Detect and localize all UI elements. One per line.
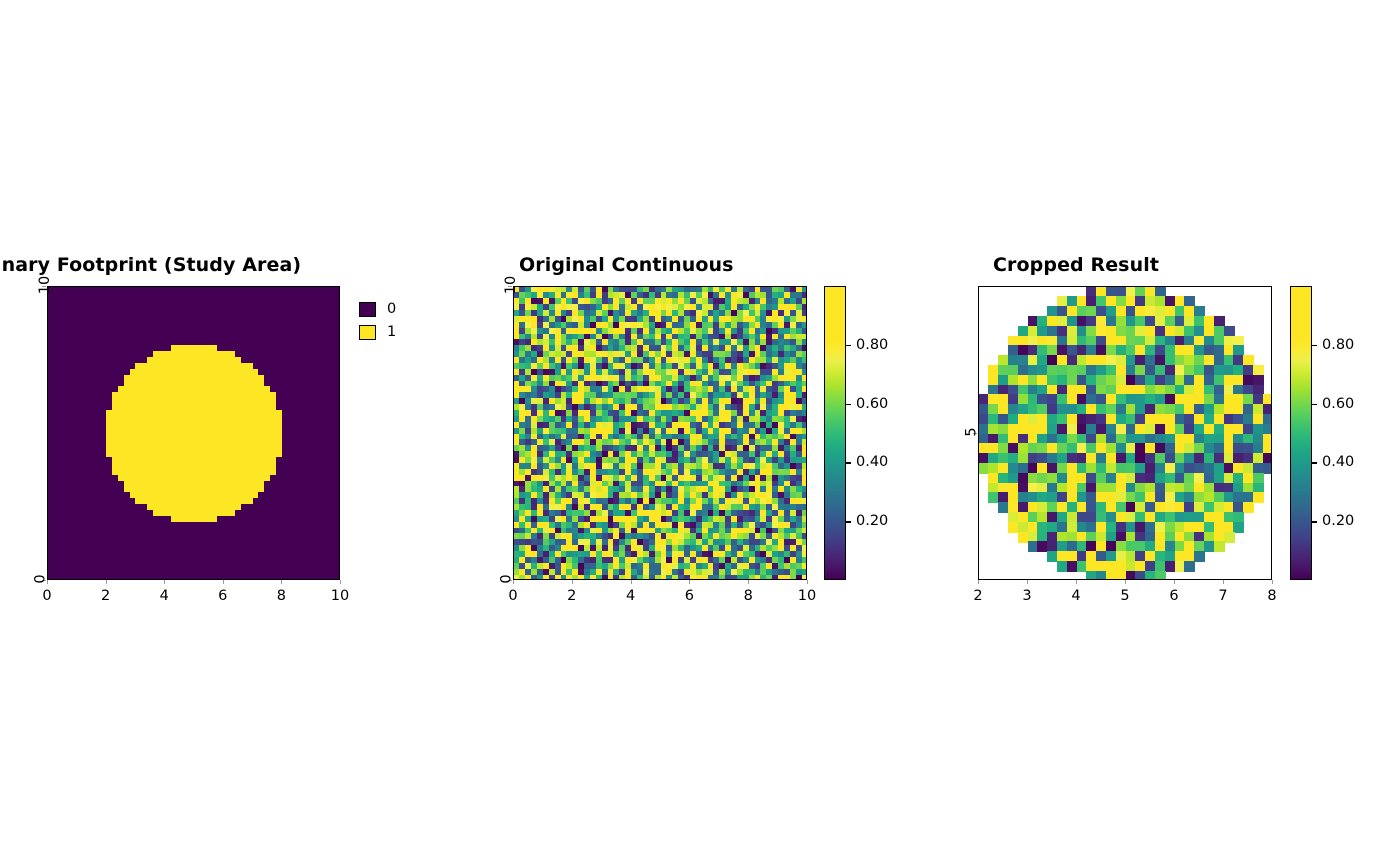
x-tick-mark (748, 580, 749, 584)
colorbar-original-continuous[interactable] (824, 286, 846, 580)
colorbar-tick-label: 0.20 (856, 513, 888, 529)
colorbar-tick-label: 0.80 (856, 337, 888, 353)
x-tick-mark (164, 580, 165, 584)
x-tick-mark (689, 580, 690, 584)
x-tick-label: 0 (508, 588, 517, 604)
x-tick-label: 8 (277, 588, 286, 604)
x-tick-mark (1027, 580, 1028, 584)
x-tick-mark (1076, 580, 1077, 584)
colorbar-tick-mark (846, 404, 851, 406)
x-tick-label: 2 (101, 588, 110, 604)
axes-binary-footprint[interactable] (47, 286, 340, 580)
x-tick-label: 2 (973, 588, 982, 604)
x-tick-mark (1272, 580, 1273, 584)
panel-title-binary-footprint: inary Footprint (Study Area) (0, 254, 301, 276)
x-tick-label: 2 (567, 588, 576, 604)
raster-cropped-result (979, 287, 1272, 580)
colorbar-tick-label: 0.40 (1322, 454, 1354, 470)
x-tick-label: 8 (744, 588, 753, 604)
legend-swatch-0 (359, 302, 376, 317)
legend-item[interactable]: 1 (359, 324, 396, 341)
raster-binary-footprint (48, 287, 340, 580)
colorbar-tick-mark (846, 521, 851, 523)
colorbar-tick-mark (846, 462, 851, 464)
legend-label-1: 1 (387, 325, 396, 340)
x-tick-mark (223, 580, 224, 584)
x-tick-mark (978, 580, 979, 584)
colorbar-tick-mark (846, 345, 851, 347)
panel-title-cropped-result: Cropped Result (993, 254, 1159, 276)
x-tick-label: 7 (1218, 588, 1227, 604)
colorbar-gradient (825, 287, 845, 579)
x-tick-mark (1174, 580, 1175, 584)
axes-cropped-result[interactable] (978, 286, 1272, 580)
x-tick-mark (807, 580, 808, 584)
x-tick-label: 4 (626, 588, 635, 604)
x-tick-label: 10 (798, 588, 816, 604)
x-tick-label: 3 (1022, 588, 1031, 604)
x-tick-label: 6 (218, 588, 227, 604)
colorbar-tick-mark (1312, 462, 1317, 464)
x-tick-label: 10 (331, 588, 349, 604)
x-tick-label: 4 (160, 588, 169, 604)
colorbar-tick-mark (1312, 404, 1317, 406)
colorbar-tick-label: 0.60 (856, 396, 888, 412)
x-tick-mark (631, 580, 632, 584)
x-tick-label: 0 (42, 588, 51, 604)
colorbar-tick-label: 0.60 (1322, 396, 1354, 412)
colorbar-tick-mark (1312, 521, 1317, 523)
x-tick-mark (106, 580, 107, 584)
x-tick-label: 6 (1169, 588, 1178, 604)
legend-binary-footprint[interactable]: 0 1 (359, 301, 396, 341)
x-tick-label: 6 (685, 588, 694, 604)
legend-swatch-1 (359, 325, 376, 340)
x-tick-mark (340, 580, 341, 584)
x-tick-mark (1223, 580, 1224, 584)
x-tick-mark (281, 580, 282, 584)
legend-label-0: 0 (387, 302, 396, 317)
colorbar-tick-label: 0.40 (856, 454, 888, 470)
colorbar-gradient (1291, 287, 1311, 579)
panel-title-original-continuous: Original Continuous (519, 254, 734, 276)
colorbar-cropped-result[interactable] (1290, 286, 1312, 580)
raster-original-continuous (514, 287, 807, 580)
matplotlib-figure: inary Footprint (Study Area) 0246810010 … (0, 0, 1400, 866)
colorbar-tick-label: 0.80 (1322, 337, 1354, 353)
legend-item[interactable]: 0 (359, 301, 396, 318)
axes-original-continuous[interactable] (513, 286, 807, 580)
x-tick-mark (572, 580, 573, 584)
x-tick-label: 4 (1071, 588, 1080, 604)
colorbar-tick-label: 0.20 (1322, 513, 1354, 529)
x-tick-label: 8 (1267, 588, 1276, 604)
colorbar-tick-mark (1312, 345, 1317, 347)
x-tick-label: 5 (1120, 588, 1129, 604)
x-tick-mark (1125, 580, 1126, 584)
